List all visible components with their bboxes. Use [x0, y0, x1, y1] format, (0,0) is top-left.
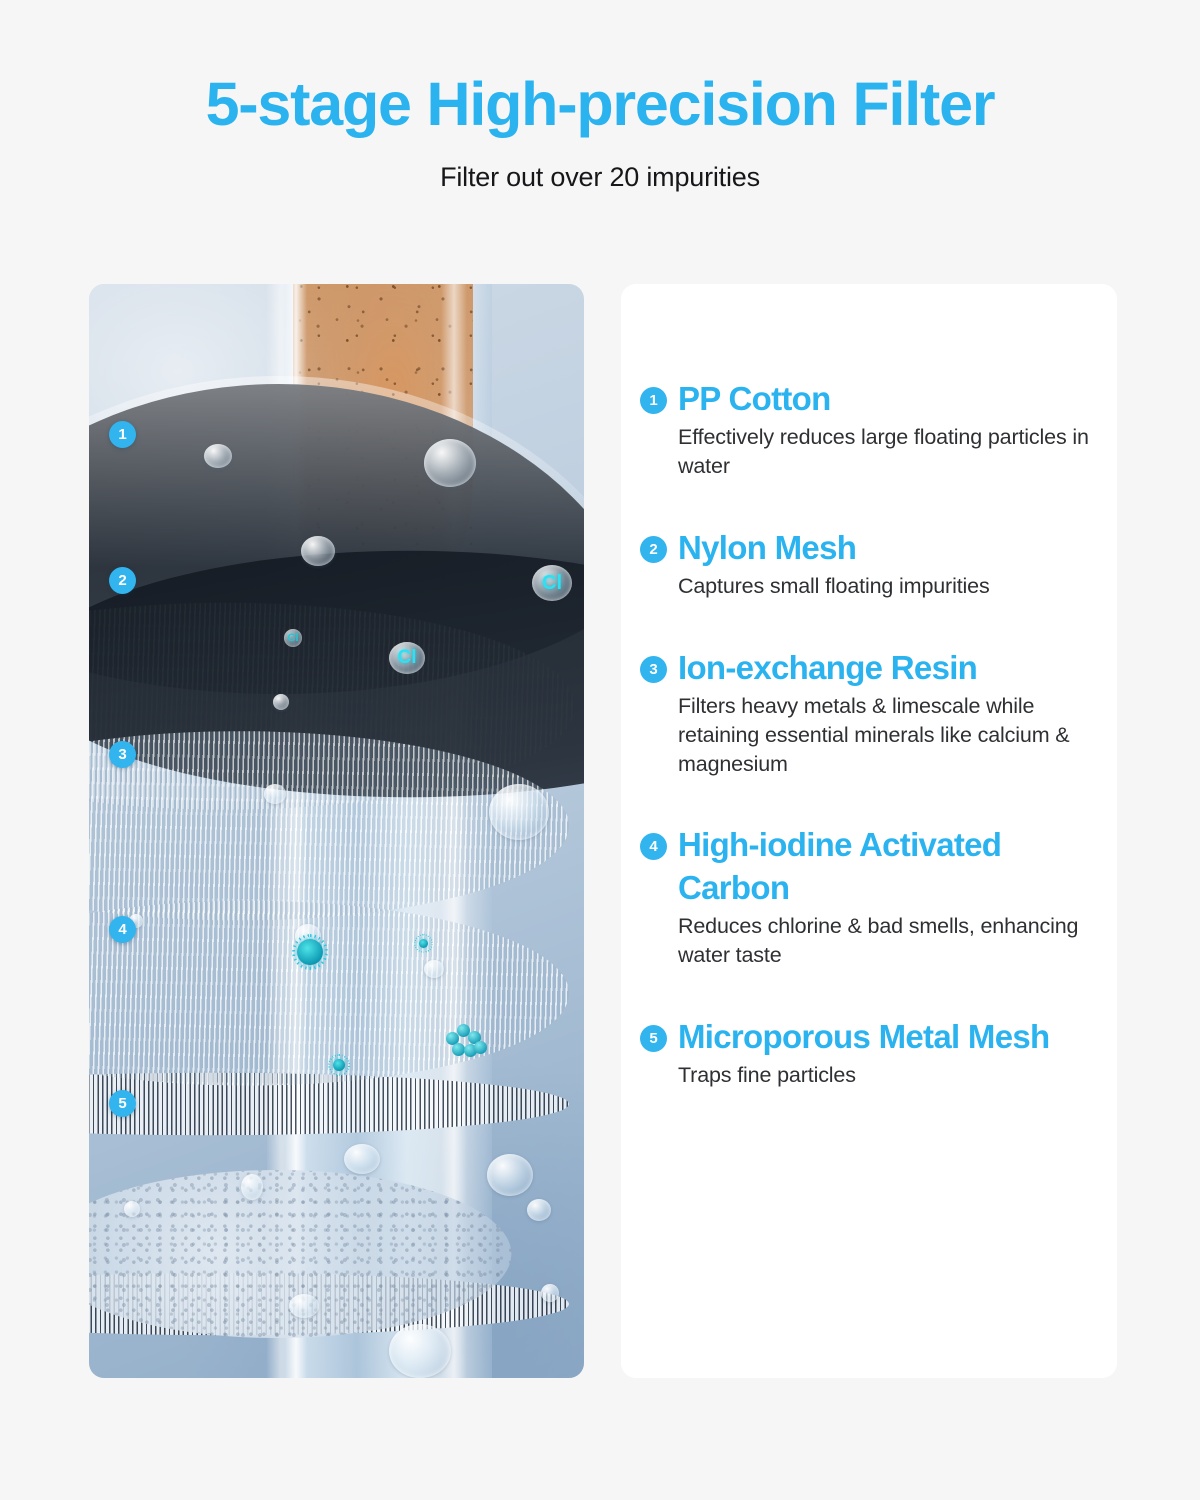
stage-heading: 4 High-iodine Activated Carbon [640, 824, 1098, 908]
stage-heading: 2 Nylon Mesh [640, 527, 1098, 569]
filter-stage-item: 5 Microporous Metal Mesh Traps fine part… [640, 1016, 1098, 1090]
water-bubble [527, 1199, 551, 1221]
image-marker-1: 1 [109, 421, 136, 448]
stage-description: Filters heavy metals & limescale while r… [678, 692, 1098, 778]
image-marker-label: 2 [118, 572, 126, 589]
water-bubble [344, 1144, 380, 1174]
stage-heading: 1 PP Cotton [640, 378, 1098, 420]
water-bubble [301, 536, 335, 566]
filter-stages-panel: 1 PP Cotton Effectively reduces large fl… [621, 284, 1117, 1378]
water-bubble [389, 1324, 451, 1378]
chlorine-molecule: Cl [532, 565, 572, 601]
header: 5-stage High-precision Filter Filter out… [0, 0, 1200, 193]
stage-number-badge: 3 [640, 656, 667, 683]
image-marker-label: 4 [118, 921, 126, 938]
stage-number-badge: 4 [640, 833, 667, 860]
water-bubble [289, 1294, 319, 1318]
molecule-label: Cl [398, 647, 417, 669]
image-marker-label: 3 [118, 746, 126, 763]
stage-heading: 5 Microporous Metal Mesh [640, 1016, 1098, 1058]
microbe-particle [419, 939, 428, 948]
filter-illustration-panel: Cl Cl Cl 1 2 [89, 284, 584, 1378]
stage-number-badge: 1 [640, 387, 667, 414]
stage-description: Reduces chlorine & bad smells, enhancing… [678, 912, 1098, 970]
image-marker-label: 5 [118, 1095, 126, 1112]
microbe-particle [333, 1059, 345, 1071]
stage-description: Traps fine particles [678, 1061, 1098, 1090]
stage-description: Effectively reduces large floating parti… [678, 423, 1098, 481]
image-marker-5: 5 [109, 1090, 136, 1117]
filter-infographic-page: 5-stage High-precision Filter Filter out… [0, 0, 1200, 1500]
image-marker-label: 1 [118, 426, 126, 443]
stage-number-badge: 5 [640, 1025, 667, 1052]
filter-stage-item: 2 Nylon Mesh Captures small floating imp… [640, 527, 1098, 601]
water-bubble [264, 784, 286, 804]
water-bubble [124, 1201, 140, 1217]
water-bubble [541, 1284, 559, 1302]
image-marker-2: 2 [109, 567, 136, 594]
chlorine-molecule: Cl [389, 642, 425, 674]
water-bubble [241, 1174, 263, 1200]
molecule-label: Cl [542, 572, 562, 595]
stage-title: Nylon Mesh [678, 527, 856, 569]
stage-title: Microporous Metal Mesh [678, 1016, 1049, 1058]
page-subtitle: Filter out over 20 impurities [0, 162, 1200, 193]
page-title: 5-stage High-precision Filter [0, 72, 1200, 136]
water-bubble [273, 694, 289, 710]
image-marker-4: 4 [109, 916, 136, 943]
stage-description: Captures small floating impurities [678, 572, 1098, 601]
filter-stage-item: 4 High-iodine Activated Carbon Reduces c… [640, 824, 1098, 969]
water-bubble [424, 439, 476, 487]
water-bubble [204, 444, 232, 468]
molecule-label: Cl [288, 632, 299, 644]
filter-stage-item: 1 PP Cotton Effectively reduces large fl… [640, 378, 1098, 481]
stage-number-badge: 2 [640, 536, 667, 563]
stage-title: High-iodine Activated Carbon [678, 824, 1098, 908]
particle-cluster [444, 1024, 488, 1064]
filter-stage-item: 3 Ion-exchange Resin Filters heavy metal… [640, 647, 1098, 779]
stage-title: PP Cotton [678, 378, 831, 420]
microbe-particle [297, 939, 323, 965]
water-bubble [489, 784, 549, 840]
water-bubble [424, 960, 444, 978]
water-bubble [487, 1154, 533, 1196]
chlorine-molecule: Cl [284, 629, 302, 647]
filter-stage-list: 1 PP Cotton Effectively reduces large fl… [640, 378, 1098, 1090]
stage-title: Ion-exchange Resin [678, 647, 977, 689]
image-marker-3: 3 [109, 741, 136, 768]
content-panels: Cl Cl Cl 1 2 [89, 284, 1117, 1378]
stage-heading: 3 Ion-exchange Resin [640, 647, 1098, 689]
